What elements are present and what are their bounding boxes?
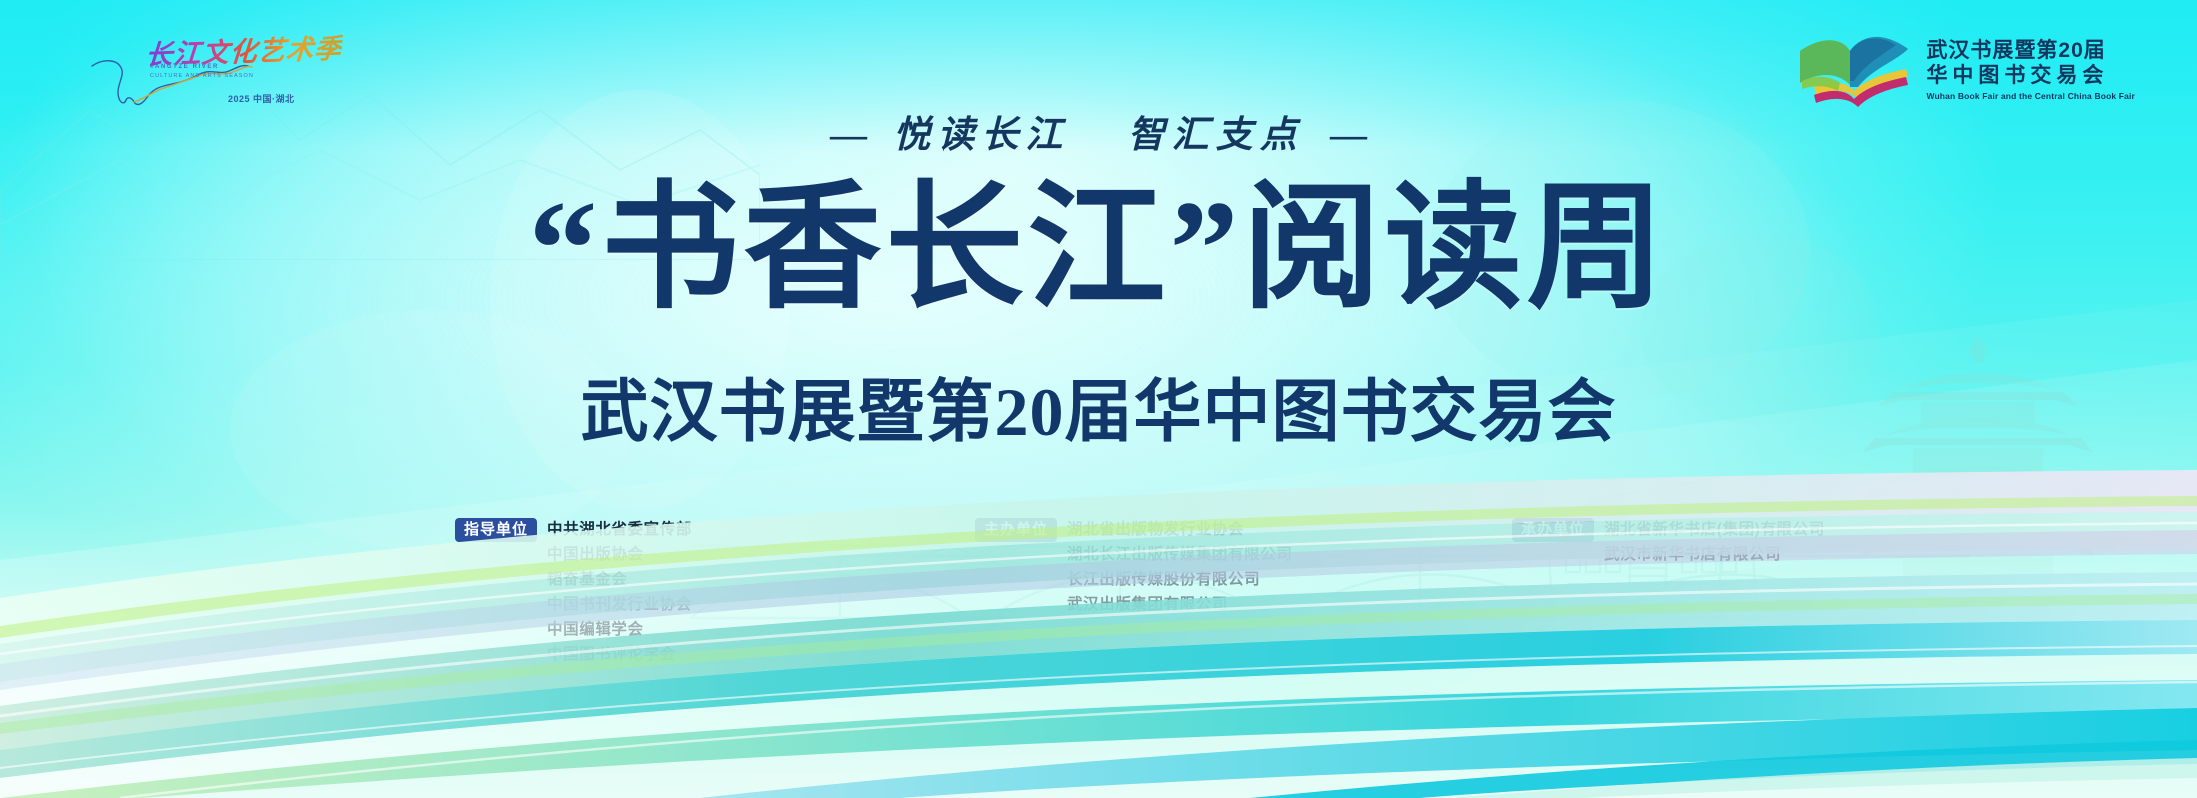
book-fair-title-line2: 华中图书交易会 [1926, 64, 2135, 88]
open-book-icon [1796, 31, 1914, 109]
wuhan-book-fair-logo: 武汉书展暨第20届 华中图书交易会 Wuhan Book Fair and th… [1796, 28, 2135, 112]
page-title: “书香长江”阅读周 [0, 180, 2197, 318]
slogan-dash-right: — [1320, 115, 1377, 156]
logo-english-line2: CULTURE AND ARTS SEASON [150, 73, 254, 79]
yangtze-culture-season-logo: 长江文化艺术季 YANGTZE RIVER CULTURE AND ARTS S… [60, 26, 300, 116]
logo-english-line1: YANGTZE RIVER [150, 64, 219, 70]
slogan-dash-left: — [820, 115, 877, 156]
bottom-wave-decoration [0, 468, 2197, 798]
slogan-part-1: 悦读长江 [893, 115, 1069, 156]
event-slogan: — 悦读长江 智汇支点 — [0, 104, 2197, 158]
book-fair-english: Wuhan Book Fair and the Central China Bo… [1926, 91, 2135, 101]
event-banner: 长江文化艺术季 YANGTZE RIVER CULTURE AND ARTS S… [0, 0, 2197, 798]
slogan-part-2: 智汇支点 [1128, 115, 1304, 156]
page-subtitle: 武汉书展暨第20届华中图书交易会 [0, 378, 2197, 446]
book-fair-title-line1: 武汉书展暨第20届 [1926, 39, 2135, 63]
